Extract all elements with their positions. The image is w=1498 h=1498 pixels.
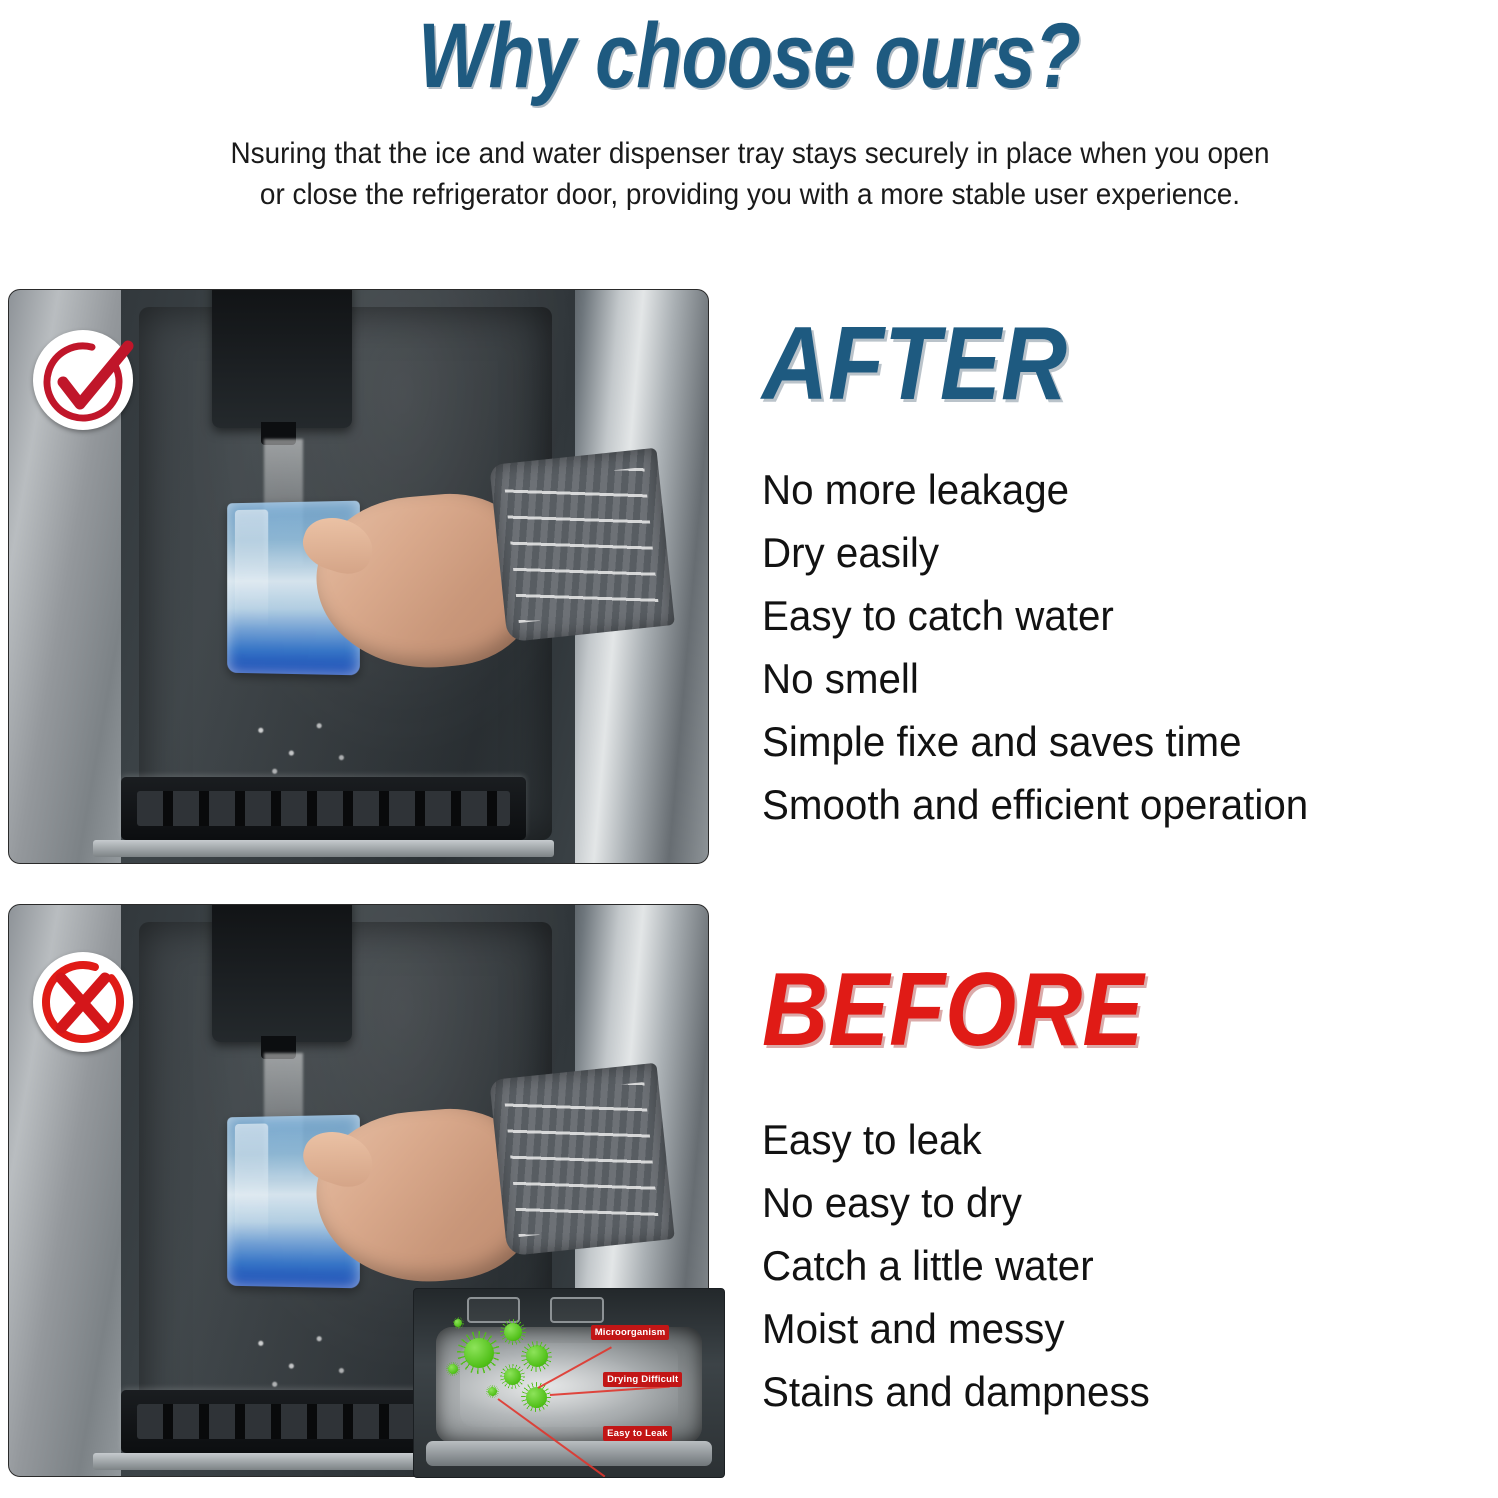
inset-tray-base (426, 1441, 711, 1465)
list-item: No smell (762, 647, 1469, 710)
list-item: Simple fixe and saves time (762, 710, 1469, 773)
germ-icon (454, 1319, 462, 1327)
after-text-column: AFTER No more leakage Dry easily Easy to… (762, 312, 1498, 836)
list-item: Easy to catch water (762, 584, 1469, 647)
inset-tag-easy-to-leak: Easy to Leak (603, 1426, 672, 1441)
before-feature-list: Easy to leak No easy to dry Catch a litt… (762, 1108, 1469, 1423)
list-item: No easy to dry (762, 1171, 1469, 1234)
list-item: Easy to leak (762, 1108, 1469, 1171)
drip-tray-lip (93, 840, 554, 857)
dispenser-head (212, 905, 352, 1042)
sweater-sleeve (489, 448, 674, 642)
drip-tray-grille (121, 777, 526, 840)
dispenser-head (212, 290, 352, 428)
cross-mark-badge (33, 952, 133, 1052)
before-heading: BEFORE (762, 958, 1410, 1062)
list-item: Smooth and efficient operation (762, 773, 1469, 836)
after-heading: AFTER (762, 312, 1410, 416)
germ-icon (488, 1387, 497, 1396)
list-item: Catch a little water (762, 1234, 1469, 1297)
inset-tag-microorganism: Microorganism (591, 1325, 670, 1340)
germ-icon (504, 1323, 522, 1341)
inset-tag-drying-difficult: Drying Difficult (603, 1372, 682, 1387)
after-feature-list: No more leakage Dry easily Easy to catch… (762, 458, 1469, 836)
page-subtitle: Nsuring that the ice and water dispenser… (90, 133, 1411, 215)
before-text-column: BEFORE Easy to leak No easy to dry Catch… (762, 958, 1498, 1423)
inset-slot-right (550, 1297, 604, 1324)
list-item: Stains and dampness (762, 1360, 1469, 1423)
list-item: No more leakage (762, 458, 1469, 521)
germ-icon (526, 1387, 547, 1408)
germ-icon (448, 1364, 458, 1374)
list-item: Dry easily (762, 521, 1469, 584)
check-mark-icon (27, 324, 139, 436)
dirty-tray-inset: Microorganism Drying Difficult Easy to L… (413, 1288, 725, 1478)
cross-mark-icon (27, 946, 139, 1058)
check-mark-badge (33, 330, 133, 430)
infographic-page: Why choose ours? Nsuring that the ice an… (0, 0, 1498, 1498)
germ-icon (464, 1338, 494, 1368)
subtitle-line-2: or close the refrigerator door, providin… (90, 174, 1411, 215)
subtitle-line-1: Nsuring that the ice and water dispenser… (90, 133, 1411, 174)
page-title: Why choose ours? (135, 6, 1363, 106)
list-item: Moist and messy (762, 1297, 1469, 1360)
germ-icon (504, 1368, 521, 1385)
sweater-sleeve (490, 1062, 675, 1256)
germ-icon (526, 1345, 548, 1367)
